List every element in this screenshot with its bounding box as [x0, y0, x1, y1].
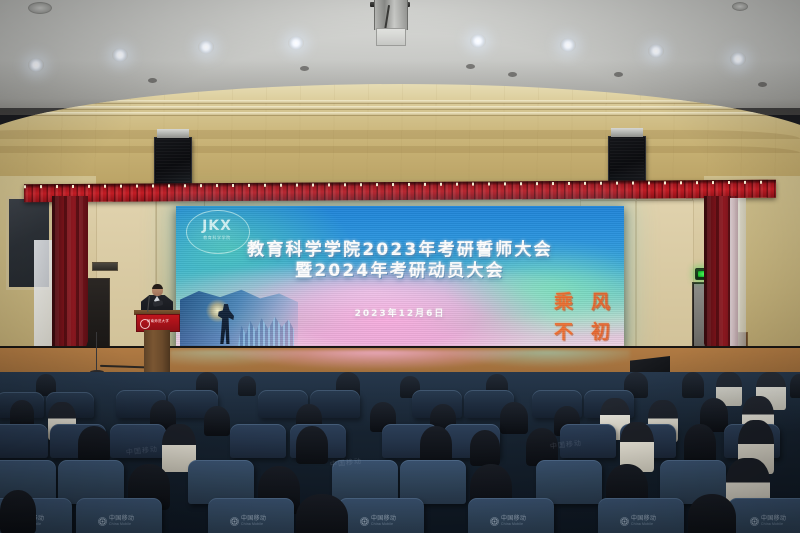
screen-title-line1: 教育科学学院2023年考研誓师大会	[176, 240, 624, 261]
arch-shadow-band	[0, 130, 800, 139]
ceiling-vent	[508, 72, 517, 77]
china-mobile-logo: 中国移动 China Mobile	[750, 516, 786, 526]
speaker-grill	[610, 138, 644, 184]
screen-decor-characters: 乘 风 不 初	[546, 289, 618, 347]
audience-member	[420, 426, 452, 464]
arch-rail	[0, 106, 800, 109]
china-mobile-logo: 中国移动 China Mobile	[98, 516, 134, 526]
wall-speaker	[154, 137, 192, 187]
china-mobile-mark-icon	[230, 517, 239, 526]
audience-member	[500, 402, 528, 434]
china-mobile-mark-icon	[360, 517, 369, 526]
ceiling-vent	[148, 78, 157, 83]
speaker-mount	[611, 128, 643, 137]
china-mobile-mark-icon	[620, 517, 629, 526]
decor-char: 不	[546, 319, 581, 347]
auditorium-seat[interactable]	[560, 424, 616, 458]
auditorium-seat[interactable]: 中国移动 China Mobile	[208, 498, 294, 533]
decor-char: 风	[583, 289, 618, 317]
arch-rail	[0, 100, 800, 103]
artwork-city-bars	[238, 312, 294, 346]
ceiling-downlight	[112, 48, 128, 62]
china-mobile-logo: 中国移动 China Mobile	[620, 516, 656, 526]
brand-label-en: China Mobile	[371, 523, 396, 526]
speaking-podium: 河南师范大学	[134, 310, 180, 372]
ceiling-downlight	[198, 40, 214, 54]
brand-label-en: China Mobile	[631, 523, 656, 526]
audience-member	[682, 372, 704, 398]
wall-sign-plate	[92, 262, 118, 271]
audience-member-foreground	[688, 494, 736, 533]
audience-member	[296, 426, 328, 464]
audience-member	[204, 406, 230, 436]
ceiling-downlight	[28, 58, 44, 72]
auditorium-seat[interactable]	[230, 424, 286, 458]
screen-title: 教育科学学院2023年考研誓师大会 暨2024年考研动员大会	[176, 240, 624, 282]
screen-title-line2: 暨2024年考研动员大会	[176, 261, 624, 282]
brand-label-en: China Mobile	[241, 523, 266, 526]
decor-char: 乘	[546, 289, 581, 317]
projector-pole	[374, 0, 408, 30]
auditorium-seat[interactable]: 中国移动 China Mobile	[728, 498, 800, 533]
podium-sign-text: 河南师范大学	[137, 318, 179, 323]
audience-member	[78, 426, 110, 462]
ceiling-projector-mount	[368, 0, 412, 46]
arch-shadow-band	[0, 146, 800, 153]
brand-label-en: China Mobile	[109, 523, 134, 526]
ceiling-downlight	[560, 38, 576, 52]
audience-member	[684, 424, 716, 464]
ceiling-downlight	[288, 36, 304, 50]
china-mobile-logo: 中国移动 China Mobile	[490, 516, 526, 526]
auditorium-seat[interactable]: 中国移动 China Mobile	[338, 498, 424, 533]
audience-member-foreground	[296, 494, 348, 533]
audience-member	[790, 374, 800, 398]
artwork-runner-figure	[218, 304, 234, 344]
china-mobile-logo: 中国移动 China Mobile	[360, 516, 396, 526]
led-display-screen: JKX 教育科学学院 教育科学学院2023年考研誓师大会 暨2024年考研动员大…	[176, 206, 624, 348]
china-mobile-mark-icon	[98, 517, 107, 526]
brand-label-en: China Mobile	[761, 523, 786, 526]
projector-housing	[376, 28, 406, 46]
brand-label-en: China Mobile	[501, 523, 526, 526]
auditorium-seat[interactable]: 中国移动 China Mobile	[76, 498, 162, 533]
ceiling-vent	[466, 64, 475, 69]
auditorium-photo: JKX 教育科学学院 教育科学学院2023年考研誓师大会 暨2024年考研动员大…	[0, 0, 800, 533]
auditorium-seat[interactable]	[0, 424, 48, 458]
presenter-head	[152, 284, 163, 296]
wall-speaker	[608, 136, 646, 186]
screen-artwork-left	[180, 286, 298, 348]
podium-base	[144, 330, 170, 372]
china-mobile-mark-icon	[750, 517, 759, 526]
ceiling-dome-fixture	[28, 2, 52, 14]
auditorium-seat[interactable]: 中国移动 China Mobile	[468, 498, 554, 533]
auditorium-seat[interactable]: 中国移动 China Mobile	[598, 498, 684, 533]
china-mobile-logo: 中国移动 China Mobile	[230, 516, 266, 526]
ceiling-downlight	[470, 34, 486, 48]
speaker-mount	[157, 129, 189, 138]
floor-mic-stand	[96, 332, 97, 372]
audience-member	[470, 430, 500, 466]
audience-member	[238, 376, 256, 396]
decor-char: 初	[583, 319, 618, 347]
auditorium-seat[interactable]	[110, 424, 166, 458]
ceiling-dome-fixture	[732, 2, 748, 11]
audience-seating-area: 中国移动 China Mobile 中国移动 China Mobile 中国移动…	[0, 372, 800, 533]
speaker-grill	[156, 139, 190, 185]
audience-member-foreground	[0, 490, 36, 533]
ceiling-vent	[614, 72, 623, 77]
ceiling-downlight	[648, 44, 664, 58]
logo-monogram: JKX	[200, 218, 234, 234]
china-mobile-mark-icon	[490, 517, 499, 526]
ceiling-vent	[300, 66, 309, 71]
arch-rail	[0, 112, 800, 115]
ceiling-downlight	[730, 52, 746, 66]
